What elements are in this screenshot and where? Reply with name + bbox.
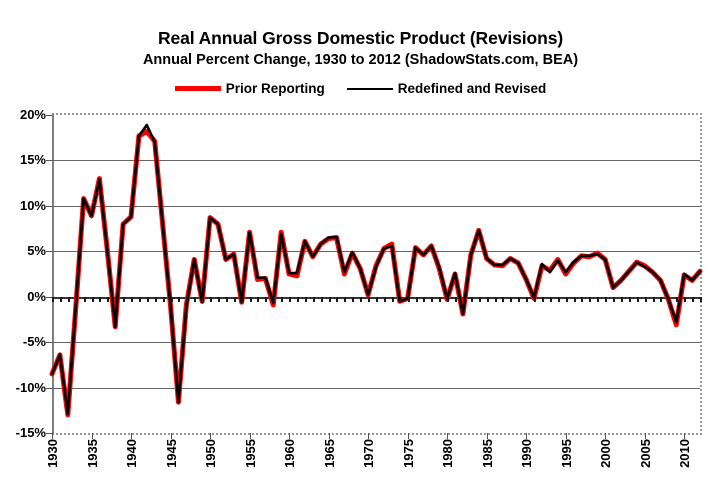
legend-label-prior-reporting: Prior Reporting <box>226 81 325 96</box>
zero-axis-year-tick <box>265 297 267 302</box>
zero-axis-year-tick <box>581 297 583 302</box>
page-title: Real Annual Gross Domestic Product (Revi… <box>0 28 721 49</box>
zero-axis-year-tick <box>597 297 599 302</box>
plot-area <box>52 115 700 433</box>
zero-axis-year-tick <box>495 297 497 302</box>
x-axis-tick-mark <box>329 433 330 439</box>
zero-axis-year-tick <box>92 297 94 302</box>
x-axis-tick-mark <box>645 433 646 439</box>
y-axis-tick-label: 10% <box>0 198 46 213</box>
zero-axis-year-tick <box>178 297 180 302</box>
zero-axis-year-tick <box>234 297 236 302</box>
y-axis-tick-mark <box>46 160 52 161</box>
zero-axis-year-tick <box>155 297 157 302</box>
zero-axis-year-tick <box>131 297 133 302</box>
y-axis-tick-mark <box>46 251 52 252</box>
zero-axis-year-tick <box>202 297 204 302</box>
zero-axis-year-tick <box>637 297 639 302</box>
zero-axis-year-tick <box>360 297 362 302</box>
zero-axis-year-tick <box>684 297 686 302</box>
zero-axis-year-tick <box>123 297 125 302</box>
zero-axis-year-tick <box>550 297 552 302</box>
zero-axis-year-tick <box>558 297 560 302</box>
zero-axis-year-tick <box>605 297 607 302</box>
y-axis-tick-label: -15% <box>0 425 46 440</box>
x-axis-tick-label: 1955 <box>243 439 258 468</box>
legend-swatch-prior-icon <box>175 86 221 91</box>
zero-axis-year-tick <box>431 297 433 302</box>
chart-subtitle: Annual Percent Change, 1930 to 2012 (Sha… <box>0 50 721 70</box>
y-axis-tick-mark <box>46 388 52 389</box>
zero-axis-year-tick <box>447 297 449 302</box>
zero-axis-year-tick <box>392 297 394 302</box>
zero-axis-year-tick <box>305 297 307 302</box>
x-axis-tick-label: 1945 <box>164 439 179 468</box>
zero-axis-year-tick <box>574 297 576 302</box>
y-axis-tick-mark <box>46 342 52 343</box>
zero-axis-year-tick <box>613 297 615 302</box>
y-axis-tick-label: 20% <box>0 107 46 122</box>
x-axis-tick-label: 1930 <box>45 439 60 468</box>
zero-axis-year-tick <box>344 297 346 302</box>
x-axis-tick-mark <box>210 433 211 439</box>
zero-axis-year-tick <box>400 297 402 302</box>
zero-axis-year-tick <box>281 297 283 302</box>
zero-axis-year-tick <box>336 297 338 302</box>
zero-axis-year-tick <box>502 297 504 302</box>
x-axis-tick-mark <box>131 433 132 439</box>
zero-axis-year-tick <box>408 297 410 302</box>
y-axis-tick-label: -10% <box>0 380 46 395</box>
zero-axis-year-tick <box>384 297 386 302</box>
legend-item-redefined-revised: Redefined and Revised <box>347 81 547 96</box>
zero-axis-year-tick <box>171 297 173 302</box>
zero-axis-year-tick <box>653 297 655 302</box>
x-axis-tick-mark <box>684 433 685 439</box>
chart-container: Real Annual Gross Domestic Product (Revi… <box>0 0 721 498</box>
zero-axis-year-tick <box>645 297 647 302</box>
x-axis-tick-mark <box>566 433 567 439</box>
zero-axis-year-tick <box>289 297 291 302</box>
zero-axis-year-tick <box>471 297 473 302</box>
x-axis-tick-mark <box>289 433 290 439</box>
zero-axis-year-tick <box>210 297 212 302</box>
zero-axis-year-tick <box>194 297 196 302</box>
zero-axis-year-tick <box>566 297 568 302</box>
zero-axis-year-tick <box>416 297 418 302</box>
chart-legend: Prior Reporting Redefined and Revised <box>0 81 721 96</box>
y-axis-tick-mark <box>46 115 52 116</box>
zero-axis-year-tick <box>250 297 252 302</box>
zero-axis-year-tick <box>621 297 623 302</box>
series-line-redefined-and-revised <box>52 125 700 414</box>
zero-axis-year-tick <box>463 297 465 302</box>
x-axis-tick-label: 1975 <box>401 439 416 468</box>
zero-axis-year-tick <box>700 297 702 302</box>
zero-axis-year-tick <box>526 297 528 302</box>
zero-axis-year-tick <box>257 297 259 302</box>
x-axis-tick-label: 1985 <box>480 439 495 468</box>
x-axis-tick-label: 1940 <box>124 439 139 468</box>
zero-axis-year-tick <box>76 297 78 302</box>
zero-axis-year-tick <box>68 297 70 302</box>
zero-axis-year-tick <box>99 297 101 302</box>
zero-axis-year-tick <box>439 297 441 302</box>
zero-axis-year-tick <box>107 297 109 302</box>
x-axis-tick-label: 1980 <box>440 439 455 468</box>
x-axis-tick-label: 1935 <box>85 439 100 468</box>
zero-axis-year-tick <box>186 297 188 302</box>
zero-axis-year-tick <box>660 297 662 302</box>
x-axis-tick-mark <box>92 433 93 439</box>
zero-axis-year-tick <box>629 297 631 302</box>
x-axis-tick-mark <box>487 433 488 439</box>
x-axis-tick-label: 1990 <box>519 439 534 468</box>
zero-axis-year-tick <box>534 297 536 302</box>
zero-axis-year-tick <box>313 297 315 302</box>
y-axis-tick-label: 5% <box>0 243 46 258</box>
x-axis-tick-label: 2005 <box>638 439 653 468</box>
x-axis-tick-label: 1970 <box>361 439 376 468</box>
y-axis-tick-label: 15% <box>0 152 46 167</box>
legend-label-redefined-revised: Redefined and Revised <box>398 81 547 96</box>
zero-axis-year-tick <box>352 297 354 302</box>
y-axis-tick-label: -5% <box>0 334 46 349</box>
x-axis-tick-label: 1960 <box>282 439 297 468</box>
zero-axis-year-tick <box>218 297 220 302</box>
zero-axis-year-tick <box>542 297 544 302</box>
zero-axis-year-tick <box>297 297 299 302</box>
zero-axis-year-tick <box>329 297 331 302</box>
legend-swatch-revised-icon <box>347 88 393 90</box>
zero-axis-year-tick <box>368 297 370 302</box>
zero-axis-year-tick <box>692 297 694 302</box>
zero-axis-year-tick <box>376 297 378 302</box>
zero-axis-year-tick <box>589 297 591 302</box>
zero-axis-year-tick <box>226 297 228 302</box>
x-axis-tick-mark <box>408 433 409 439</box>
x-axis-tick-mark <box>447 433 448 439</box>
x-axis-tick-mark <box>52 433 53 439</box>
zero-axis-year-tick <box>163 297 165 302</box>
x-axis-tick-mark <box>171 433 172 439</box>
x-axis-tick-mark <box>368 433 369 439</box>
zero-axis-year-tick <box>676 297 678 302</box>
zero-axis-year-tick <box>115 297 117 302</box>
zero-axis-year-tick <box>52 297 54 302</box>
x-axis-tick-mark <box>605 433 606 439</box>
zero-axis-year-tick <box>668 297 670 302</box>
title-block: Real Annual Gross Domestic Product (Revi… <box>0 28 721 70</box>
x-axis-tick-label: 2000 <box>598 439 613 468</box>
zero-axis-year-tick <box>423 297 425 302</box>
series-lines <box>52 115 700 433</box>
legend-item-prior-reporting: Prior Reporting <box>175 81 325 96</box>
zero-axis-year-tick <box>60 297 62 302</box>
zero-axis-year-tick <box>455 297 457 302</box>
y-axis-tick-mark <box>46 297 52 298</box>
zero-axis-year-tick <box>84 297 86 302</box>
y-axis-tick-mark <box>46 206 52 207</box>
zero-axis-year-tick <box>242 297 244 302</box>
zero-axis-year-tick <box>479 297 481 302</box>
y-axis-tick-label: 0% <box>0 289 46 304</box>
zero-axis-year-tick <box>518 297 520 302</box>
zero-axis-year-tick <box>139 297 141 302</box>
x-axis-tick-mark <box>250 433 251 439</box>
x-axis-tick-label: 1995 <box>559 439 574 468</box>
zero-axis-year-tick <box>510 297 512 302</box>
x-axis-tick-label: 1965 <box>322 439 337 468</box>
zero-axis-year-tick <box>321 297 323 302</box>
zero-axis-year-tick <box>147 297 149 302</box>
x-axis-tick-label: 2010 <box>677 439 692 468</box>
zero-axis-year-tick <box>487 297 489 302</box>
x-axis-tick-mark <box>526 433 527 439</box>
zero-axis-year-tick <box>273 297 275 302</box>
series-line-prior-reporting <box>52 131 700 414</box>
x-axis-tick-label: 1950 <box>203 439 218 468</box>
